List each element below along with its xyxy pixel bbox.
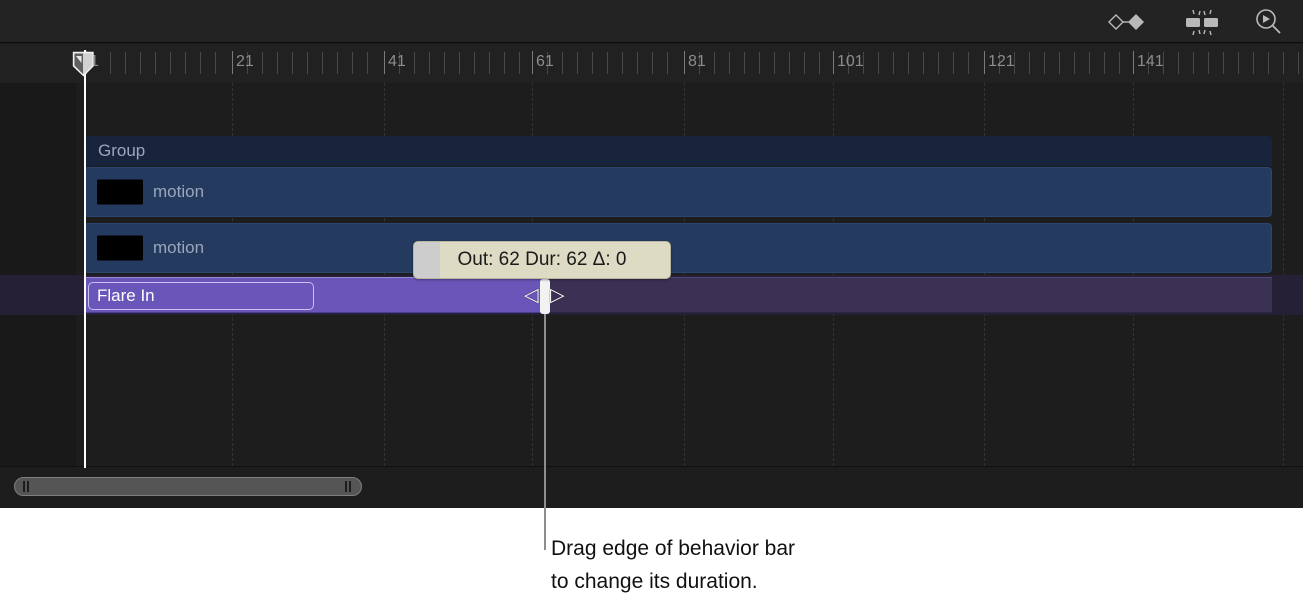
ruler-tick	[592, 52, 593, 74]
ruler-tick	[322, 52, 323, 74]
callout-text: Drag edge of behavior bar to change its …	[551, 532, 795, 598]
ruler-tick	[953, 52, 954, 74]
ruler-tick	[277, 52, 278, 74]
ruler-tick	[1208, 52, 1209, 74]
ruler-tick	[1283, 52, 1284, 74]
layer-thumbnail	[97, 180, 143, 205]
ruler-tick	[1074, 52, 1075, 74]
ruler-tick	[519, 52, 520, 74]
ruler-tick	[774, 52, 775, 74]
tooltip-text: Out: 62 Dur: 62 Δ: 0	[458, 249, 627, 271]
ruler-tick	[170, 52, 171, 74]
ruler-tick	[367, 52, 368, 74]
playhead-handle[interactable]	[72, 51, 95, 77]
timeline-window: 121416181101121141 Groupmotionmotion ◁ ▷…	[0, 0, 1303, 508]
ruler-tick-major	[984, 51, 985, 74]
duration-tooltip: Out: 62 Dur: 62 Δ: 0	[413, 241, 671, 279]
ruler-tick	[352, 52, 353, 74]
behavior-bar-inactive[interactable]	[545, 277, 1272, 313]
ruler-tick	[804, 52, 805, 74]
horizontal-scrollbar-track[interactable]	[14, 477, 1289, 496]
callout-leader-line	[544, 314, 546, 550]
ruler-tick	[819, 52, 820, 74]
ruler-tick-label: 141	[1137, 52, 1164, 72]
playhead-line	[84, 50, 86, 468]
ruler-tick	[714, 52, 715, 74]
show-hide-icon[interactable]	[1180, 6, 1224, 38]
ruler-tick	[1059, 52, 1060, 74]
ruler-tick-major	[684, 51, 685, 74]
ruler-tick-label: 21	[236, 52, 254, 72]
ruler-tick-label: 101	[837, 52, 864, 72]
ruler-tick	[968, 52, 969, 74]
layer-thumbnail	[97, 236, 143, 261]
tooltip-left-shade	[414, 242, 440, 278]
timeline-toolbar	[0, 0, 1303, 43]
ruler-tick	[110, 52, 111, 74]
ruler-tick	[637, 52, 638, 74]
ruler-tick	[1253, 52, 1254, 74]
ruler-tick	[667, 52, 668, 74]
drag-arrow-left-icon: ◁	[524, 285, 539, 307]
ruler-tick	[1268, 52, 1269, 74]
ruler-tick	[1298, 52, 1299, 74]
ruler-tick	[729, 52, 730, 74]
ruler-tick	[607, 52, 608, 74]
ruler-tick-label: 61	[536, 52, 554, 72]
ruler-tick	[893, 52, 894, 74]
ruler-tick	[414, 52, 415, 74]
scrollbar-grip-right[interactable]	[345, 481, 352, 492]
drag-arrow-right-icon: ▷	[550, 285, 565, 307]
search-icon[interactable]	[1246, 6, 1290, 38]
motion-layer-track-1[interactable]: motion	[84, 167, 1272, 217]
ruler-tick	[140, 52, 141, 74]
ruler-tick	[200, 52, 201, 74]
ruler-tick	[489, 52, 490, 74]
ruler-tick	[1029, 52, 1030, 74]
ruler-tick	[307, 52, 308, 74]
ruler-tick	[215, 52, 216, 74]
ruler-tick	[459, 52, 460, 74]
ruler-tick	[155, 52, 156, 74]
ruler-tick-major	[833, 51, 834, 74]
ruler-tick	[1238, 52, 1239, 74]
ruler-tick	[1193, 52, 1194, 74]
ruler-tick	[1223, 52, 1224, 74]
ruler-tick	[185, 52, 186, 74]
motion-layer-track-2[interactable]: motion	[84, 223, 1272, 273]
timeline-ruler[interactable]: 121416181101121141	[0, 44, 1303, 83]
callout-line-1: Drag edge of behavior bar	[551, 532, 795, 565]
behavior-bar-drag-handle[interactable]	[540, 279, 550, 314]
behavior-name-label: Flare In	[97, 286, 155, 306]
ruler-tick	[504, 52, 505, 74]
ruler-tick	[923, 52, 924, 74]
ruler-tick-label: 81	[688, 52, 706, 72]
layer-track-label: motion	[153, 182, 204, 202]
ruler-tick	[337, 52, 338, 74]
ruler-tick	[622, 52, 623, 74]
ruler-tick	[938, 52, 939, 74]
scrollbar-strip	[0, 466, 1303, 508]
ruler-tick-label: 41	[388, 52, 406, 72]
layer-track-label: motion	[153, 238, 204, 258]
ruler-tick	[1119, 52, 1120, 74]
ruler-tick	[759, 52, 760, 74]
ruler-tick	[429, 52, 430, 74]
ruler-tick-major	[384, 51, 385, 74]
group-track-label: Group	[98, 141, 145, 161]
ruler-tick	[292, 52, 293, 74]
ruler-tick	[474, 52, 475, 74]
keyframe-icon[interactable]	[1104, 6, 1148, 38]
ruler-tick	[908, 52, 909, 74]
ruler-tick	[125, 52, 126, 74]
ruler-tick	[262, 52, 263, 74]
group-track[interactable]: Group	[84, 136, 1272, 166]
ruler-tick-major	[1133, 51, 1134, 74]
callout-line-2: to change its duration.	[551, 565, 795, 598]
ruler-tick	[789, 52, 790, 74]
ruler-tick	[1089, 52, 1090, 74]
ruler-tick-label: 121	[988, 52, 1015, 72]
behavior-name-box[interactable]: Flare In	[88, 282, 314, 310]
ruler-tick	[1044, 52, 1045, 74]
ruler-tick-major	[232, 51, 233, 74]
ruler-tick	[577, 52, 578, 74]
ruler-tick	[652, 52, 653, 74]
ruler-tick	[562, 52, 563, 74]
ruler-tick	[1104, 52, 1105, 74]
scrollbar-grip-left[interactable]	[23, 481, 30, 492]
ruler-tick	[1178, 52, 1179, 74]
ruler-tick-major	[532, 51, 533, 74]
horizontal-scrollbar-thumb[interactable]	[14, 477, 362, 496]
ruler-tick	[444, 52, 445, 74]
ruler-tick	[878, 52, 879, 74]
ruler-tick	[744, 52, 745, 74]
